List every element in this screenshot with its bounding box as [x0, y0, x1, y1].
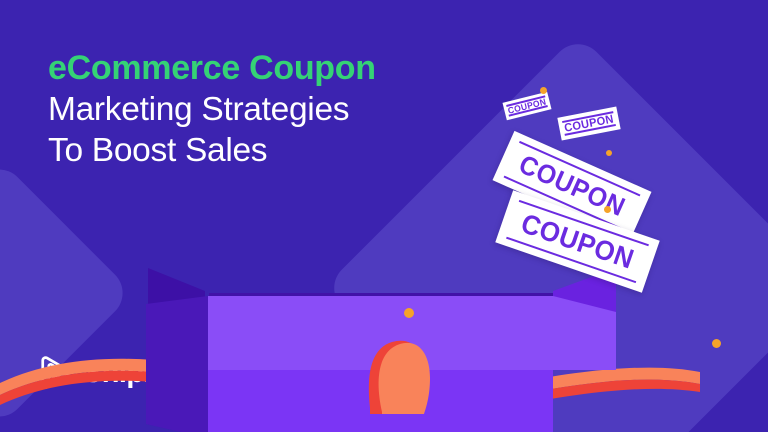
headline-line-2: Marketing Strategies: [48, 89, 478, 130]
brand-logo[interactable]: Shiprocket: [36, 354, 227, 392]
brand-name: Shiprocket: [83, 359, 227, 388]
decorative-dot-3: [604, 206, 611, 213]
decorative-dot-4: [404, 308, 414, 318]
headline-line-1: eCommerce Coupon: [48, 48, 478, 89]
promo-banner: eCommerce Coupon Marketing Strategies To…: [0, 0, 768, 432]
decorative-dot-2: [606, 150, 612, 156]
shiprocket-play-mark-icon: [36, 354, 74, 392]
decorative-dot-1: [540, 87, 547, 94]
decorative-dot-5: [712, 339, 721, 348]
headline-line-3: To Boost Sales: [48, 130, 478, 171]
headline-block: eCommerce Coupon Marketing Strategies To…: [48, 48, 478, 171]
